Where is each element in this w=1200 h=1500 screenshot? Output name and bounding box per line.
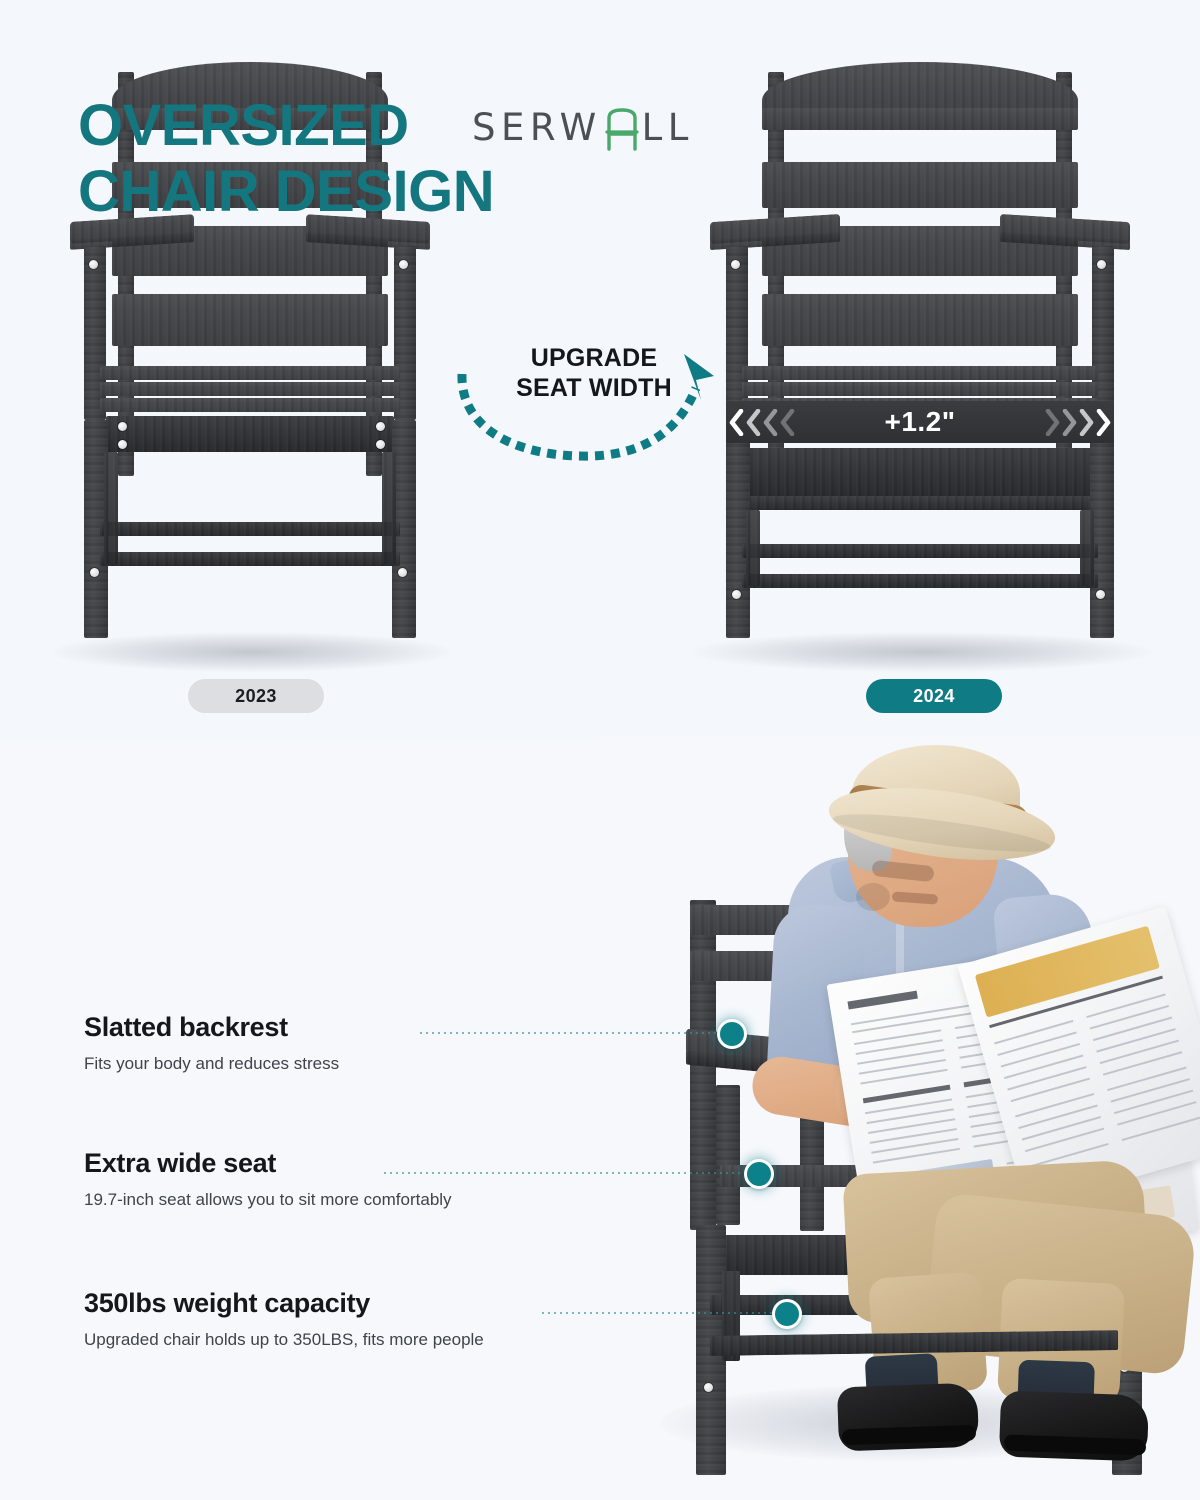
feature-description: Upgraded chair holds up to 350LBS, fits … bbox=[84, 1328, 554, 1351]
features-headline: OVERSIZED CHAIR DESIGN bbox=[78, 93, 638, 224]
screw bbox=[1097, 260, 1106, 269]
upgrade-line-1: UPGRADE bbox=[494, 344, 694, 374]
connector-line-extra-wide-seat bbox=[382, 1172, 746, 1174]
screw bbox=[731, 260, 740, 269]
screw bbox=[704, 1383, 713, 1392]
chevron-right-icon bbox=[1095, 409, 1112, 436]
side-rail-left bbox=[104, 452, 118, 564]
screw bbox=[732, 590, 741, 599]
connector-line-slatted-backrest bbox=[418, 1032, 730, 1034]
side-rail-left bbox=[746, 510, 760, 586]
stretcher-lower bbox=[742, 574, 1098, 588]
screw bbox=[118, 440, 127, 449]
seat-apron-measure bbox=[730, 448, 1112, 496]
chevron-left-icon bbox=[762, 409, 779, 436]
hotspot-dot-extra-wide-seat bbox=[744, 1159, 774, 1189]
headline-line-2: CHAIR DESIGN bbox=[78, 159, 638, 225]
seat-slat-2 bbox=[100, 382, 400, 396]
backrest-slat-1 bbox=[762, 162, 1078, 208]
seat-apron-lower bbox=[746, 496, 1094, 510]
stretcher-upper bbox=[742, 544, 1098, 558]
feature-title: 350lbs weight capacity bbox=[84, 1288, 554, 1319]
right-chevrons bbox=[1044, 409, 1112, 436]
feature-description: Fits your body and reduces stress bbox=[84, 1052, 554, 1075]
seat-slat-1 bbox=[100, 366, 400, 380]
screw bbox=[376, 440, 385, 449]
photo-chair-arm-support-left bbox=[716, 1085, 740, 1225]
upgrade-line-2: SEAT WIDTH bbox=[494, 374, 694, 404]
chair-2024-image bbox=[700, 50, 1140, 670]
year-badge-2023: 2023 bbox=[188, 679, 324, 713]
feature-title: Slatted backrest bbox=[84, 1012, 554, 1043]
left-chevrons bbox=[728, 409, 796, 436]
stretcher-lower bbox=[100, 552, 400, 566]
feature-item-weight-capacity: 350lbs weight capacity Upgraded chair ho… bbox=[84, 1288, 554, 1351]
chair-shadow bbox=[52, 632, 452, 672]
seat-slat-1 bbox=[742, 366, 1098, 380]
headline-line-1: OVERSIZED bbox=[78, 93, 638, 159]
seat-apron bbox=[106, 416, 394, 452]
chevron-right-icon bbox=[1061, 409, 1078, 436]
feature-description: 19.7-inch seat allows you to sit more co… bbox=[84, 1188, 554, 1211]
lifestyle-photo bbox=[600, 735, 1200, 1500]
backrest-top-rail-body bbox=[762, 108, 1078, 130]
chevron-right-icon bbox=[1044, 409, 1061, 436]
seat-slat-3 bbox=[100, 398, 400, 412]
seat-width-measure-bar: +1.2" bbox=[726, 401, 1114, 443]
logo-text-after: LL bbox=[642, 109, 694, 146]
backrest-slat-3 bbox=[112, 294, 388, 346]
newspaper-masthead-bar bbox=[847, 991, 917, 1010]
screw bbox=[118, 422, 127, 431]
feature-item-slatted-backrest: Slatted backrest Fits your body and redu… bbox=[84, 1012, 554, 1075]
screw bbox=[1096, 590, 1105, 599]
chevron-right-icon bbox=[1078, 409, 1095, 436]
screw bbox=[399, 260, 408, 269]
upgrade-callout: UPGRADE SEAT WIDTH bbox=[452, 330, 732, 465]
chevron-left-icon bbox=[745, 409, 762, 436]
connector-line-weight-capacity bbox=[540, 1312, 774, 1314]
side-rail-right bbox=[382, 452, 396, 564]
hotspot-dot-slatted-backrest bbox=[717, 1019, 747, 1049]
chevron-left-icon bbox=[779, 409, 796, 436]
screw bbox=[376, 422, 385, 431]
upgrade-callout-text: UPGRADE SEAT WIDTH bbox=[494, 344, 694, 403]
chair-shadow bbox=[692, 632, 1152, 672]
screw bbox=[398, 568, 407, 577]
feature-title: Extra wide seat bbox=[84, 1148, 554, 1179]
seat-slat-2 bbox=[742, 382, 1098, 396]
seat-width-value: +1.2" bbox=[884, 406, 955, 438]
year-badge-2024: 2024 bbox=[866, 679, 1002, 713]
person-cheek-shadow bbox=[856, 883, 890, 911]
stretcher-upper bbox=[100, 522, 400, 536]
screw bbox=[90, 568, 99, 577]
hotspot-dot-weight-capacity bbox=[772, 1299, 802, 1329]
feature-item-extra-wide-seat: Extra wide seat 19.7-inch seat allows yo… bbox=[84, 1148, 554, 1211]
backrest-slat-3 bbox=[762, 294, 1078, 346]
side-rail-right bbox=[1080, 510, 1094, 586]
screw bbox=[89, 260, 98, 269]
